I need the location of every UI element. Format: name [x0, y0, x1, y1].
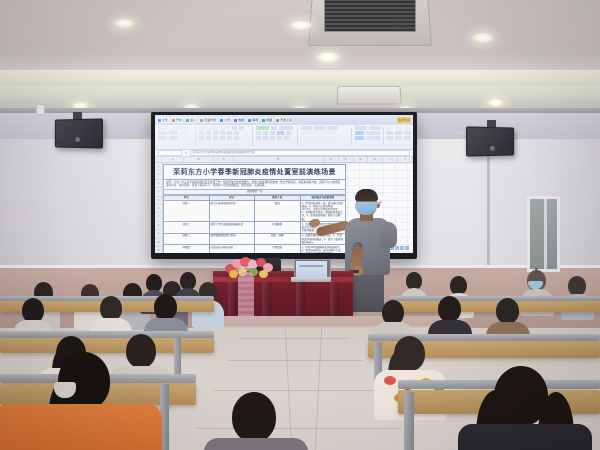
row-header[interactable]: 7: [155, 213, 162, 221]
presenter-legs: [350, 272, 384, 312]
cell-item: 应急转运与家长对接: [209, 245, 255, 253]
cell-no: 场景四: [164, 245, 210, 253]
cell-who: 行政值班: [255, 245, 301, 253]
cell-item: 校门入校测温发现异常: [209, 201, 255, 222]
row-header[interactable]: 3: [155, 180, 162, 188]
ribbon-tab-data[interactable]: 数据: [233, 117, 245, 123]
row-header[interactable]: 10: [155, 239, 162, 247]
table-row: 场景四 应急转运与家长对接 行政值班 1、抨打120或通知家长到校接孩子；2、登…: [164, 245, 346, 253]
downlight: [316, 52, 340, 63]
downlight: [487, 99, 504, 107]
cell-who: 值班: [255, 201, 301, 222]
row-header[interactable]: 9: [155, 230, 162, 238]
row-header[interactable]: 11: [155, 247, 162, 253]
ribbon-tab-view[interactable]: 视图: [261, 117, 273, 123]
ribbon-group-clipboard[interactable]: [158, 126, 188, 140]
downlight: [290, 21, 312, 30]
ribbon-tab-file[interactable]: 文件: [157, 117, 169, 123]
cell-item: 临时留观室处置与登记: [209, 233, 255, 245]
lecture-hall-photo: 文件 开始 插入 页面布局 公式 数据 审阅 视图 开发工具 会员专享: [0, 0, 600, 450]
downlight: [113, 19, 135, 28]
row-header[interactable]: 8: [155, 222, 162, 230]
cell-who: 任课教师: [255, 222, 301, 234]
ribbon-group-number[interactable]: [301, 126, 338, 140]
wall-speaker-right: [466, 126, 514, 156]
ceiling: [0, 0, 600, 118]
presenter-hair: [355, 189, 378, 201]
cell-who: 校医、保健: [255, 233, 301, 245]
ribbon-tab-home[interactable]: 开始: [171, 117, 183, 123]
column-header[interactable]: A: [162, 157, 183, 162]
row-header[interactable]: 4: [155, 188, 162, 196]
column-header[interactable]: E: [324, 157, 339, 162]
ribbon-tab-formula[interactable]: 公式: [219, 117, 231, 123]
row-header[interactable]: 2: [155, 171, 162, 179]
window-mullion: [544, 199, 547, 269]
laptop-screen-content: [299, 265, 323, 267]
cell-no: 场景一: [164, 201, 210, 222]
ribbon-group-alignment[interactable]: [256, 126, 293, 140]
laptop-keyboard: [291, 277, 331, 282]
column-header[interactable]: I: [383, 157, 398, 162]
wall-speaker-left: [55, 118, 103, 148]
ribbon-toolbar[interactable]: [155, 125, 413, 150]
cell-item: 课堂上学生出现发热咳嗽症状: [209, 222, 255, 234]
wall-junction-box: [36, 104, 45, 115]
column-header[interactable]: G: [354, 157, 369, 162]
row-header[interactable]: 1: [155, 163, 162, 171]
column-header[interactable]: J: [398, 157, 413, 162]
document-content: 茉莉东方小学春季新冠肺炎疫情处置室前演练场景 说明：为进一步完善学校疫情防控应急…: [163, 164, 346, 253]
toolbar-icon[interactable]: [405, 246, 409, 250]
row-header[interactable]: 6: [155, 205, 162, 213]
downlight: [472, 33, 494, 43]
column-header[interactable]: B: [184, 157, 215, 162]
cell-no: 场景二: [164, 222, 210, 234]
ribbon-tab-insert[interactable]: 插入: [185, 117, 197, 123]
ribbon-tab-devtools[interactable]: 开发工具: [275, 117, 293, 123]
cell-no: 场景三: [164, 233, 210, 245]
ribbon-group-styles[interactable]: [355, 126, 381, 140]
formula-input[interactable]: 茉莉东方小学春季新冠肺炎疫情处置室前演练场景方案: [190, 150, 410, 156]
column-header[interactable]: H: [368, 157, 383, 162]
laptop-screen: [296, 261, 327, 277]
column-header[interactable]: F: [339, 157, 354, 162]
ribbon-group-tools[interactable]: [386, 126, 411, 140]
ribbon-tab-member[interactable]: 会员专享: [397, 117, 411, 123]
document-title: 茉莉东方小学春季新冠肺炎疫情处置室前演练场景: [163, 164, 346, 180]
document-intro-paragraph: 说明：为进一步完善学校疫情防控应急处置工作，提升师生应急处置能力，按照上级疫情防…: [163, 180, 346, 190]
ribbon-group-font[interactable]: [199, 126, 244, 140]
presenter-sleeve: [380, 222, 397, 248]
toolbar-icon[interactable]: [400, 246, 404, 250]
name-box[interactable]: [158, 150, 182, 156]
ribbon-tab-review[interactable]: 审阅: [247, 117, 259, 123]
air-conditioner-grille-icon: [324, 0, 416, 32]
ribbon-tab-layout[interactable]: 页面布局: [199, 117, 217, 123]
air-vent: [336, 86, 401, 105]
ribbon-tab-bar[interactable]: 文件 开始 插入 页面布局 公式 数据 审阅 视图 开发工具 会员专享: [155, 115, 413, 125]
row-header[interactable]: 5: [155, 197, 162, 205]
cove-light-strip: [0, 70, 600, 86]
row-header-column[interactable]: 1 2 3 4 5 6 7 8 9 10 11 12 13: [155, 163, 163, 253]
formula-bar-row[interactable]: fx 茉莉东方小学春季新冠肺炎疫情处置室前演练场景方案: [155, 150, 413, 157]
column-header[interactable]: D: [234, 157, 324, 162]
column-header[interactable]: C: [214, 157, 234, 162]
